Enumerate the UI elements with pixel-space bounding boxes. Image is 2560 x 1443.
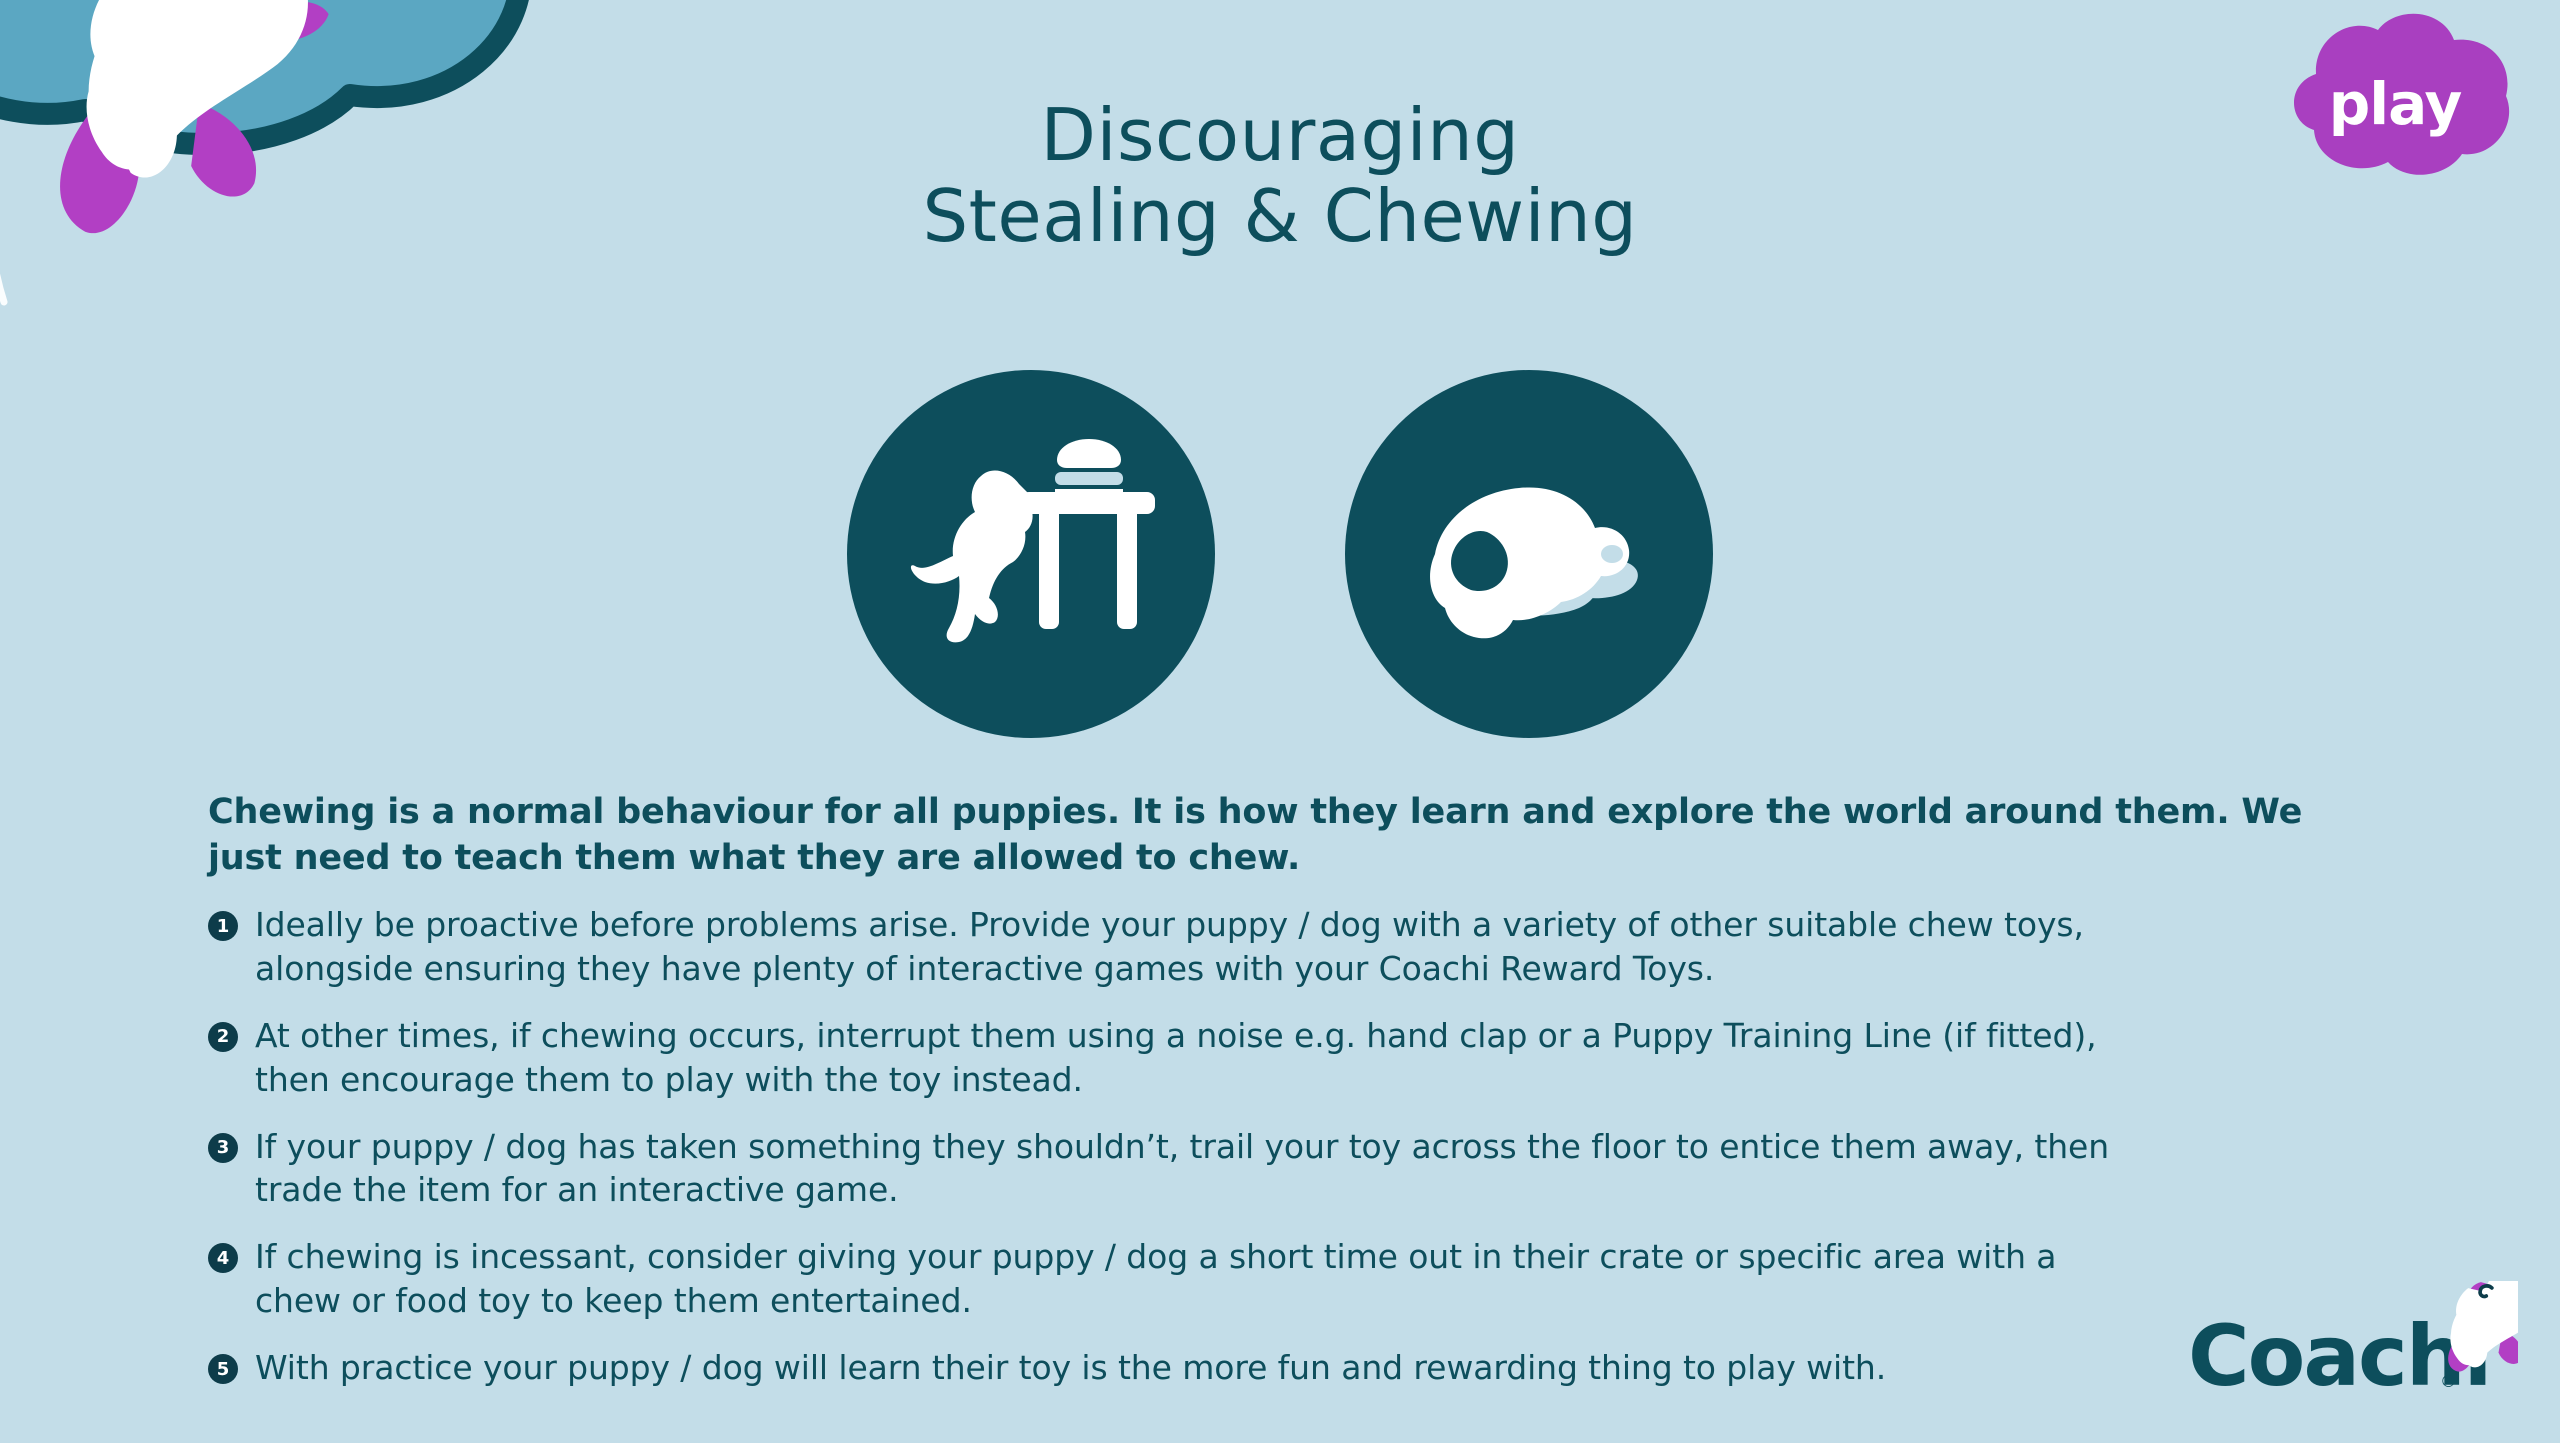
step-text: With practice your puppy / dog will lear…	[255, 1346, 1886, 1390]
step-number-badge: 3	[208, 1133, 238, 1163]
page-title: Discouraging Stealing & Chewing	[0, 95, 2560, 256]
step-number-badge: 2	[208, 1022, 238, 1052]
list-item: 1 Ideally be proactive before problems a…	[208, 903, 2388, 991]
step-number-badge: 5	[208, 1354, 238, 1384]
content-body: Chewing is a normal behaviour for all pu…	[208, 790, 2388, 1413]
list-item: 5 With practice your puppy / dog will le…	[208, 1346, 2388, 1390]
list-item: 2 At other times, if chewing occurs, int…	[208, 1014, 2388, 1102]
list-item: 4 If chewing is incessant, consider givi…	[208, 1235, 2388, 1323]
step-text: If your puppy / dog has taken something …	[255, 1125, 2115, 1213]
step-number-badge: 1	[208, 911, 238, 941]
step-text: Ideally be proactive before problems ari…	[255, 903, 2115, 991]
step-text: At other times, if chewing occurs, inter…	[255, 1014, 2115, 1102]
title-line-2: Stealing & Chewing	[0, 176, 2560, 257]
registered-trademark-symbol: ®	[2440, 1372, 2457, 1392]
title-line-1: Discouraging	[0, 95, 2560, 176]
step-text: If chewing is incessant, consider giving…	[255, 1235, 2115, 1323]
list-item: 3 If your puppy / dog has taken somethin…	[208, 1125, 2388, 1213]
dog-stealing-food-from-table-icon	[847, 370, 1215, 738]
dog-chewing-bone-icon	[1345, 370, 1713, 738]
step-number-badge: 4	[208, 1243, 238, 1273]
intro-paragraph: Chewing is a normal behaviour for all pu…	[208, 790, 2358, 881]
coachi-logo: Coachi ®	[2188, 1281, 2518, 1421]
icon-row	[0, 370, 2560, 738]
